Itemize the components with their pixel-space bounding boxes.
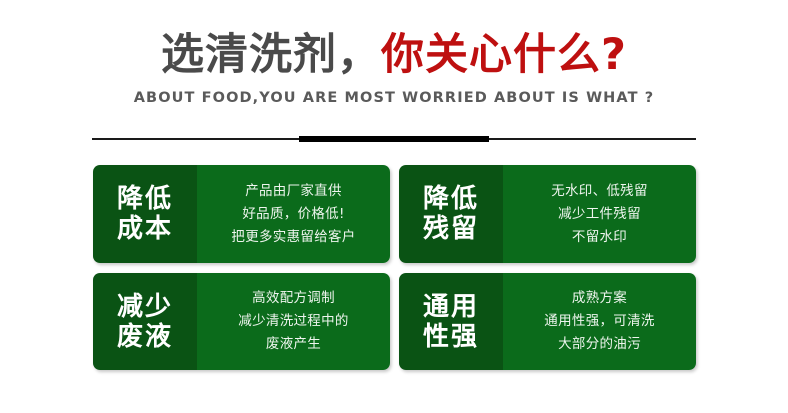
feature-card-label: 降低成本 bbox=[114, 184, 176, 244]
feature-card-label: 减少废液 bbox=[114, 292, 176, 352]
feature-card-label-panel: 降低成本 bbox=[93, 165, 197, 263]
feature-card-line: 减少工件残留 bbox=[558, 203, 641, 226]
feature-card-label-panel: 降低残留 bbox=[399, 165, 503, 263]
feature-card-line: 好品质，价格低! bbox=[242, 203, 344, 226]
feature-card-body-panel: 成熟方案 通用性强，可清洗 大部分的油污 bbox=[503, 273, 696, 370]
feature-card-line: 成熟方案 bbox=[572, 287, 627, 310]
feature-card-body-panel: 高效配方调制 减少清洗过程中的 废液产生 bbox=[197, 273, 390, 370]
feature-card-cost: 降低成本 产品由厂家直供 好品质，价格低! 把更多实惠留给客户 bbox=[93, 165, 390, 263]
feature-card-body-panel: 无水印、低残留 减少工件残留 不留水印 bbox=[503, 165, 696, 263]
page-title: 选清洗剂，你关心什么? bbox=[0, 0, 788, 80]
feature-card-line: 不留水印 bbox=[572, 226, 627, 249]
feature-card-line: 高效配方调制 bbox=[252, 287, 335, 310]
feature-card-body-panel: 产品由厂家直供 好品质，价格低! 把更多实惠留给客户 bbox=[197, 165, 390, 263]
feature-card-label: 通用性强 bbox=[420, 292, 482, 352]
divider bbox=[92, 136, 696, 143]
header: 选清洗剂，你关心什么? ABOUT FOOD,YOU ARE MOST WORR… bbox=[0, 0, 788, 107]
feature-card-line: 通用性强，可清洗 bbox=[544, 310, 654, 333]
page-title-dark-part: 选清洗剂， bbox=[161, 30, 381, 80]
page-title-red-part: 你关心什么? bbox=[381, 30, 627, 80]
divider-center-bar bbox=[299, 136, 489, 142]
feature-card-line: 产品由厂家直供 bbox=[245, 180, 342, 203]
feature-card-label: 降低残留 bbox=[420, 184, 482, 244]
feature-card-line: 无水印、低残留 bbox=[551, 180, 648, 203]
feature-card-residue: 降低残留 无水印、低残留 减少工件残留 不留水印 bbox=[399, 165, 696, 263]
page-subtitle: ABOUT FOOD,YOU ARE MOST WORRIED ABOUT IS… bbox=[0, 80, 788, 107]
feature-card-label-panel: 减少废液 bbox=[93, 273, 197, 370]
feature-card-line: 废液产生 bbox=[266, 333, 321, 356]
feature-card-line: 减少清洗过程中的 bbox=[238, 310, 348, 333]
infographic-page: 选清洗剂，你关心什么? ABOUT FOOD,YOU ARE MOST WORR… bbox=[0, 0, 788, 413]
feature-card-waste: 减少废液 高效配方调制 减少清洗过程中的 废液产生 bbox=[93, 273, 390, 370]
feature-card-line: 大部分的油污 bbox=[558, 333, 641, 356]
feature-card-versatility: 通用性强 成熟方案 通用性强，可清洗 大部分的油污 bbox=[399, 273, 696, 370]
feature-card-label-panel: 通用性强 bbox=[399, 273, 503, 370]
feature-card-grid: 降低成本 产品由厂家直供 好品质，价格低! 把更多实惠留给客户 降低残留 无水印… bbox=[93, 165, 696, 370]
feature-card-line: 把更多实惠留给客户 bbox=[231, 226, 355, 249]
